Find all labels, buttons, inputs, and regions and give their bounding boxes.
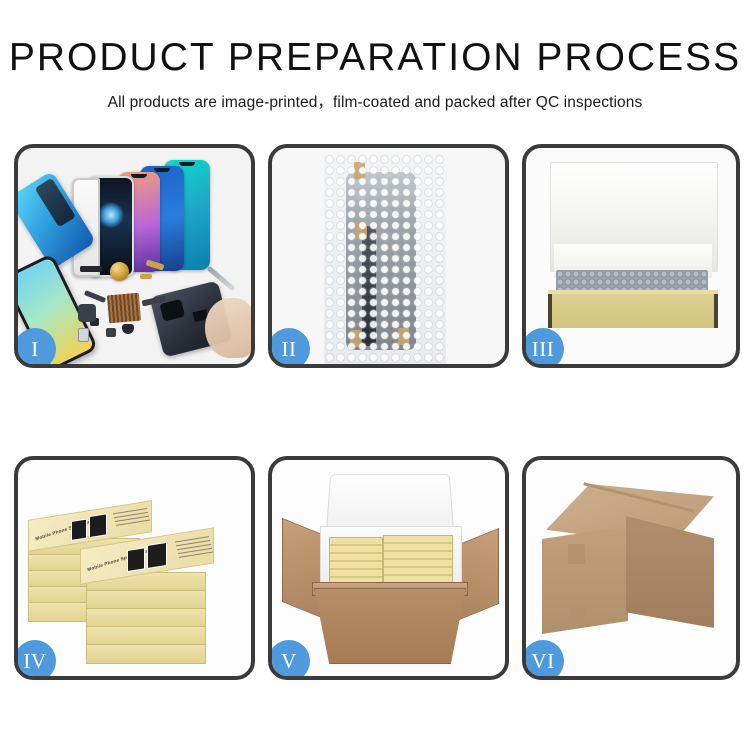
step-badge-2: II xyxy=(268,328,310,368)
box-label-phone-b1 xyxy=(127,547,145,572)
step-6-image xyxy=(526,460,736,676)
step-1-image xyxy=(18,148,251,364)
step-badge-3: III xyxy=(522,328,564,368)
stacked-box-r2 xyxy=(86,590,206,610)
step-panel-4[interactable]: Mobile Phone Spare Parts Mobile Phone Sp… xyxy=(14,456,255,680)
stacked-box-r4 xyxy=(86,626,206,646)
carton-body xyxy=(314,588,466,664)
flex-cable-2 xyxy=(78,304,96,322)
yellow-box-front xyxy=(548,294,718,328)
flex-cable-4 xyxy=(106,328,116,337)
process-steps-grid: I II III xyxy=(14,144,740,680)
step-panel-3[interactable]: III xyxy=(522,144,740,368)
yellow-boxes-group-right xyxy=(383,535,453,583)
circuit-board-part xyxy=(107,293,141,324)
sealed-carton-side xyxy=(626,516,714,628)
box-label-phone-a1 xyxy=(71,518,87,541)
copper-coil-part xyxy=(110,262,129,281)
step-badge-1: I xyxy=(14,328,56,368)
chip-part-1 xyxy=(80,266,102,272)
step-5-image xyxy=(272,460,505,676)
step-panel-5[interactable]: V xyxy=(268,456,509,680)
box-label-phone-a2 xyxy=(89,513,107,538)
stacked-box-r3 xyxy=(86,608,206,628)
bubble-wrap-bag xyxy=(324,154,446,364)
gold-connector-2 xyxy=(140,274,152,279)
step-3-image xyxy=(526,148,736,364)
step-badge-6: VI xyxy=(522,640,564,680)
flex-cable-1 xyxy=(84,290,106,303)
chip-part-3 xyxy=(122,324,134,334)
step-4-image: Mobile Phone Spare Parts Mobile Phone Sp… xyxy=(18,460,251,676)
step-badge-4: IV xyxy=(14,640,56,680)
page-title: PRODUCT PREPARATION PROCESS xyxy=(0,0,750,79)
small-part-light xyxy=(78,328,89,342)
step-2-image xyxy=(272,148,505,364)
step-panel-2[interactable]: II xyxy=(268,144,509,368)
step-badge-5: V xyxy=(268,640,310,680)
bubble-texture xyxy=(324,154,446,364)
hand-holding-phone xyxy=(205,298,251,358)
yellow-boxes-group-left xyxy=(329,537,383,583)
box-label-a: Mobile Phone Spare Parts xyxy=(35,517,97,541)
page-header: PRODUCT PREPARATION PROCESS All products… xyxy=(0,0,750,112)
carton-tape-upper xyxy=(568,544,585,564)
step-panel-1[interactable]: I xyxy=(14,144,255,368)
box-label-phone-b2 xyxy=(147,542,167,569)
step-panel-6[interactable]: VI xyxy=(522,456,740,680)
stacked-box-r5 xyxy=(86,644,206,664)
carton-tape-lower xyxy=(570,608,586,626)
box-stack: Mobile Phone Spare Parts Mobile Phone Sp… xyxy=(24,476,251,672)
page-subtitle: All products are image-printed，film-coat… xyxy=(0,79,750,112)
